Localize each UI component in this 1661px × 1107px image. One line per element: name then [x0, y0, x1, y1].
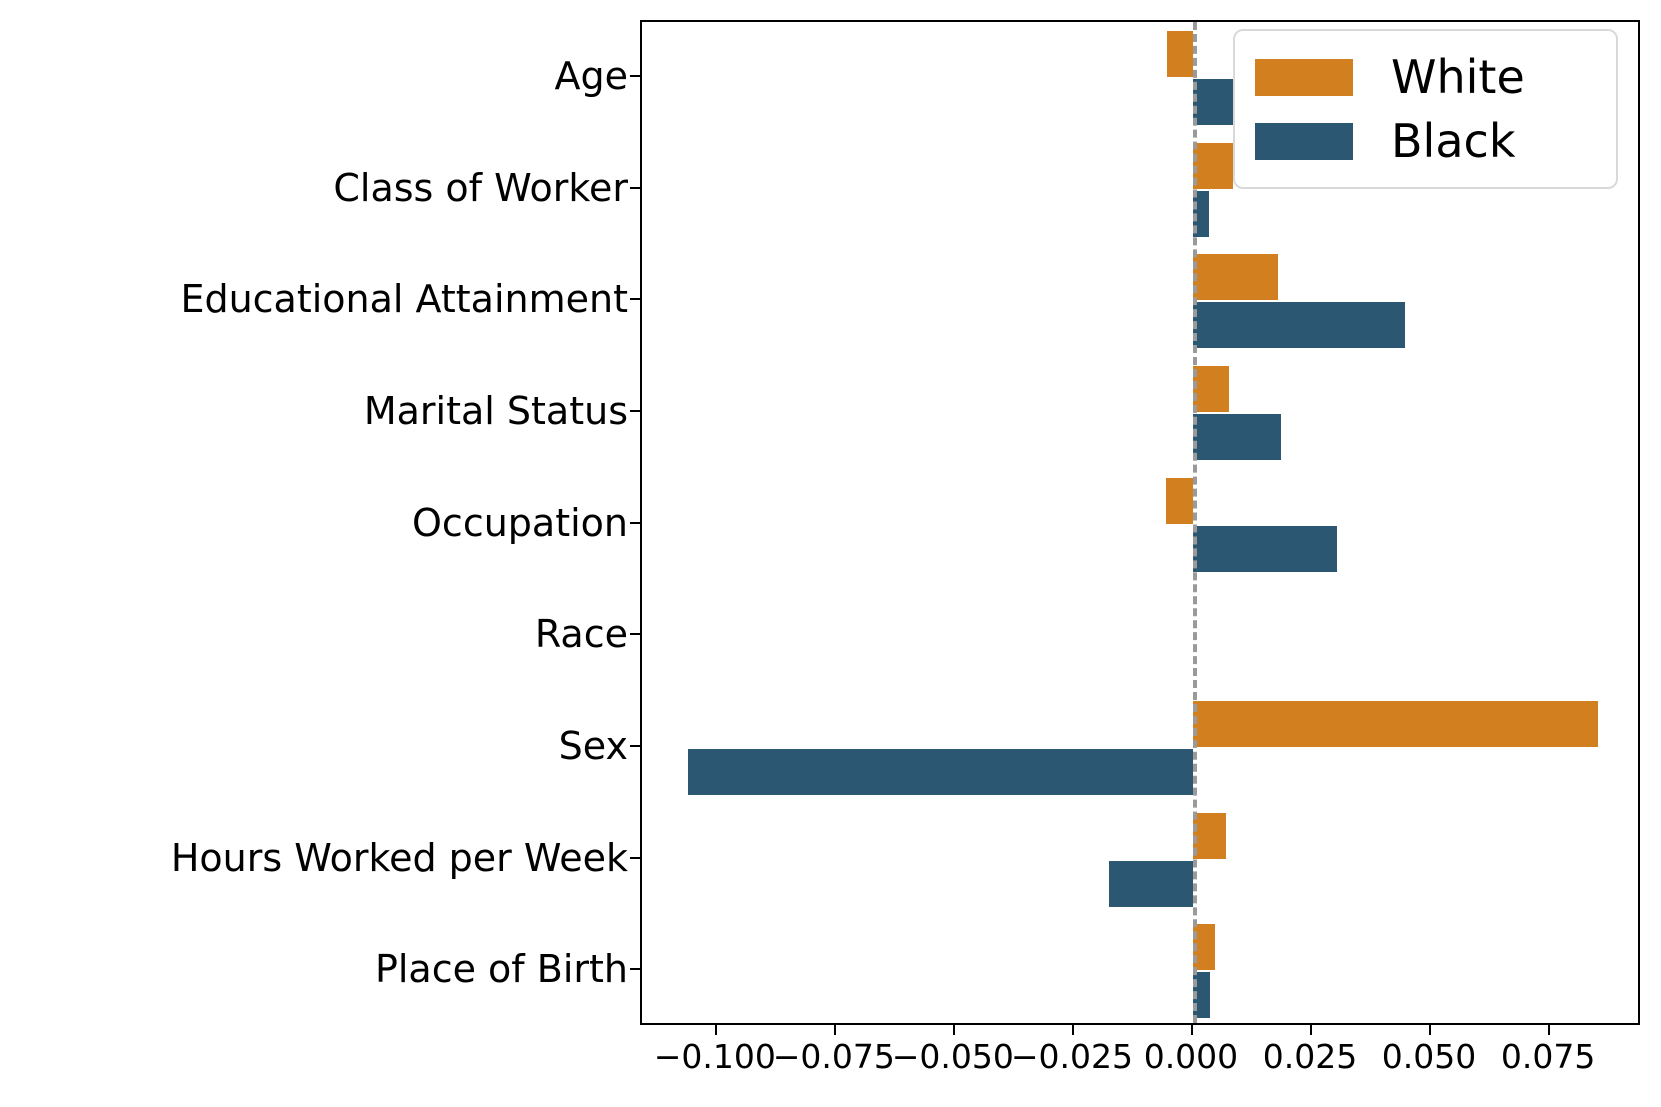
legend-swatch-black-icon: [1255, 123, 1353, 160]
y-tick-label-class-of-worker: Class of Worker: [333, 169, 628, 207]
y-tick-mark: [630, 75, 640, 77]
x-tick-mark: [834, 1025, 836, 1035]
y-tick-mark: [630, 298, 640, 300]
bar-black-sex: [688, 749, 1193, 795]
y-tick-label-place-of-birth: Place of Birth: [375, 950, 628, 988]
bar-white-marital-status: [1193, 366, 1229, 412]
bar-black-marital-status: [1193, 414, 1281, 460]
bar-white-sex: [1193, 701, 1598, 747]
legend-item-black[interactable]: Black: [1255, 109, 1596, 173]
y-tick-mark: [630, 968, 640, 970]
x-tick-mark: [1548, 1025, 1550, 1035]
bar-white-age: [1167, 31, 1193, 77]
y-tick-mark: [630, 410, 640, 412]
x-tick-label-0: −0.100: [654, 1040, 776, 1073]
legend-label-white: White: [1391, 54, 1525, 100]
bar-white-hours-worked-per-week: [1193, 813, 1226, 859]
x-tick-label-6: 0.050: [1382, 1040, 1476, 1073]
bar-black-hours-worked-per-week: [1109, 861, 1193, 907]
x-tick-label-4: 0.000: [1144, 1040, 1238, 1073]
x-tick-mark: [1191, 1025, 1193, 1035]
legend-label-black: Black: [1391, 118, 1515, 164]
legend-swatch-white-icon: [1255, 59, 1353, 96]
x-tick-label-3: −0.025: [1011, 1040, 1133, 1073]
bar-black-educational-attainment: [1193, 302, 1405, 348]
x-tick-mark: [1072, 1025, 1074, 1035]
x-tick-mark: [715, 1025, 717, 1035]
y-tick-label-occupation: Occupation: [412, 504, 628, 542]
x-tick-label-1: −0.075: [773, 1040, 895, 1073]
x-tick-label-5: 0.025: [1263, 1040, 1357, 1073]
x-tick-mark: [1310, 1025, 1312, 1035]
bar-white-educational-attainment: [1193, 254, 1278, 300]
chart-figure: AgeClass of WorkerEducational Attainment…: [0, 0, 1661, 1107]
x-tick-mark: [953, 1025, 955, 1035]
y-tick-label-race: Race: [535, 615, 628, 653]
y-tick-mark: [630, 522, 640, 524]
x-tick-label-2: −0.050: [892, 1040, 1014, 1073]
bar-white-class-of-worker: [1193, 143, 1233, 189]
y-tick-label-sex: Sex: [559, 727, 628, 765]
y-tick-mark: [630, 187, 640, 189]
y-tick-mark: [630, 857, 640, 859]
y-tick-label-hours-worked-per-week: Hours Worked per Week: [171, 839, 628, 877]
y-tick-label-educational-attainment: Educational Attainment: [180, 280, 628, 318]
y-tick-mark: [630, 633, 640, 635]
x-tick-label-7: 0.075: [1501, 1040, 1595, 1073]
chart-legend[interactable]: White Black: [1233, 29, 1618, 189]
y-tick-label-marital-status: Marital Status: [364, 392, 628, 430]
y-tick-label-age: Age: [555, 57, 629, 95]
bar-white-occupation: [1166, 478, 1193, 524]
zero-reference-line: [1193, 22, 1197, 1023]
legend-item-white[interactable]: White: [1255, 45, 1596, 109]
y-tick-mark: [630, 745, 640, 747]
bar-black-occupation: [1193, 526, 1337, 572]
x-tick-mark: [1429, 1025, 1431, 1035]
